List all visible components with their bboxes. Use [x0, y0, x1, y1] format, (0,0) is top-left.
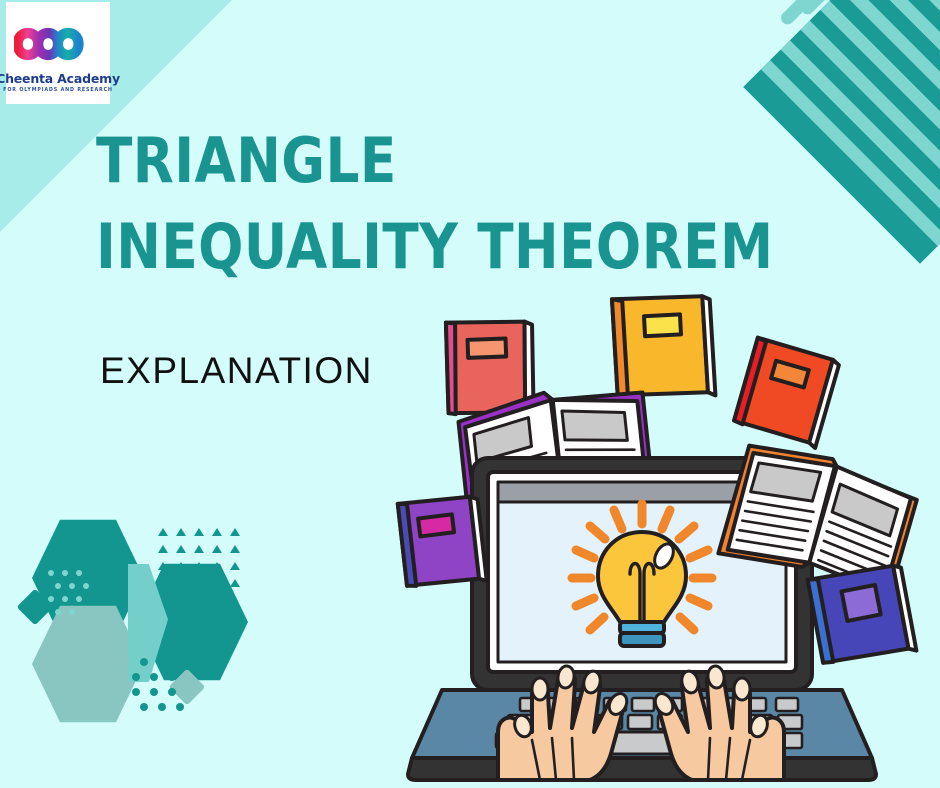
- page-title-line-1: TRIANGLE: [96, 118, 784, 204]
- hexagon-cluster-decoration: [10, 498, 260, 733]
- page-title-line-2: INEQUALITY THEOREM: [96, 204, 784, 290]
- brand-logo[interactable]: Cheenta Academy FOR OLYMPIADS AND RESEAR…: [6, 2, 110, 104]
- logo-tagline: FOR OLYMPIADS AND RESEARCH: [3, 88, 113, 93]
- page-subtitle: EXPLANATION: [100, 350, 373, 392]
- book-blue: [800, 554, 924, 676]
- poster-canvas: Cheenta Academy FOR OLYMPIADS AND RESEAR…: [0, 0, 940, 788]
- book-yellow: [606, 287, 721, 407]
- book-red: [732, 336, 841, 449]
- hexagon-light-bottom: [32, 602, 144, 726]
- infinity-icon: [14, 18, 102, 70]
- illustration-svg: [380, 280, 940, 788]
- logo-name: Cheenta Academy: [0, 71, 120, 86]
- lightbulb-icon: [572, 504, 712, 646]
- online-learning-illustration: [380, 280, 940, 788]
- page-title: TRIANGLE INEQUALITY THEOREM: [96, 118, 784, 290]
